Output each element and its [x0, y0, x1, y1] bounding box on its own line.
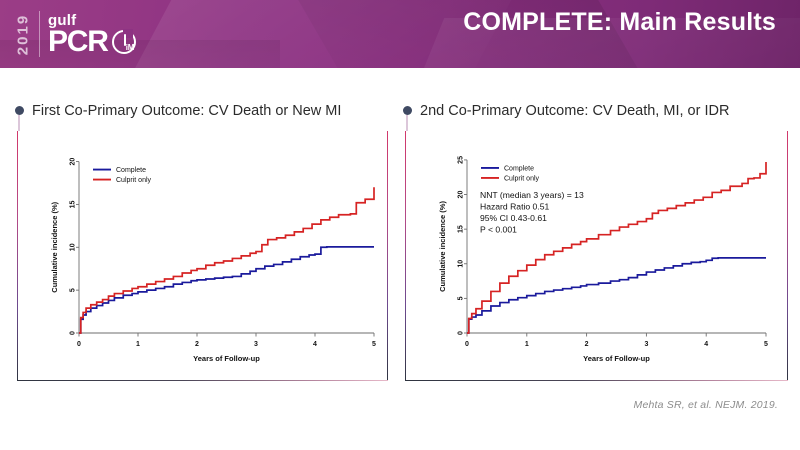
- x-tick-label: 0: [77, 341, 81, 348]
- bullet-marker-right: [400, 101, 414, 115]
- logo-divider: [39, 11, 40, 57]
- x-tick-label: 0: [465, 341, 469, 348]
- x-tick-label: 3: [644, 341, 648, 348]
- logo-im-text: iM: [126, 44, 135, 52]
- right-chart-canvas: 0510152025012345Years of Follow-upCumula…: [405, 131, 788, 381]
- bullet-dot-icon: [15, 106, 24, 115]
- right-chart-svg: 0510152025012345Years of Follow-upCumula…: [405, 131, 788, 381]
- y-tick-label: 5: [458, 296, 465, 300]
- panel-right-chart: 0510152025012345Years of Follow-upCumula…: [405, 131, 788, 381]
- page-title: COMPLETE: Main Results: [463, 8, 776, 37]
- y-tick-label: 0: [458, 331, 465, 335]
- y-tick-label: 20: [70, 158, 77, 166]
- series-curve-culprit-only: [79, 187, 374, 333]
- x-tick-label: 2: [585, 341, 589, 348]
- x-axis-title: Years of Follow-up: [193, 354, 260, 363]
- annotation-line-2: 95% CI 0.43-0.61: [480, 213, 547, 223]
- legend-label-0: Complete: [504, 166, 534, 173]
- y-tick-label: 10: [70, 243, 77, 251]
- y-axis-title: Cumulative incidence (%): [438, 201, 447, 292]
- heading-first-outcome: First Co-Primary Outcome: CV Death or Ne…: [12, 101, 341, 121]
- y-tick-label: 15: [458, 225, 465, 233]
- series-curve-complete: [79, 247, 374, 333]
- heading-second-outcome: 2nd Co-Primary Outcome: CV Death, MI, or…: [400, 101, 729, 121]
- gulf-pcr-logo: 2019 gulf PCR iM: [14, 6, 138, 62]
- x-tick-label: 4: [704, 341, 708, 348]
- logo-year: 2019: [15, 6, 32, 62]
- x-tick-label: 5: [764, 341, 768, 348]
- logo-pcr-text: PCR: [48, 29, 108, 55]
- x-axis-title: Years of Follow-up: [583, 354, 650, 363]
- y-axis-title: Cumulative incidence (%): [50, 201, 59, 292]
- x-tick-label: 3: [254, 341, 258, 348]
- legend-label-0: Complete: [116, 167, 146, 174]
- x-tick-label: 5: [372, 341, 376, 348]
- slide-root: 2019 gulf PCR iM COMPLETE: Main Results: [0, 0, 800, 450]
- logo-circle-g-icon: iM: [112, 29, 138, 55]
- x-tick-label: 2: [195, 341, 199, 348]
- logo-main-row: PCR iM: [48, 29, 138, 55]
- y-tick-label: 15: [70, 200, 77, 208]
- logo-wordmark: gulf PCR iM: [48, 13, 138, 55]
- annotation-line-3: P < 0.001: [480, 224, 517, 234]
- left-chart-svg: 05101520012345Years of Follow-upCumulati…: [17, 131, 388, 381]
- x-tick-label: 1: [525, 341, 529, 348]
- series-curve-complete: [467, 258, 766, 333]
- y-tick-label: 25: [458, 156, 465, 164]
- source-citation: Mehta SR, et al. NEJM. 2019.: [634, 399, 779, 411]
- y-tick-label: 10: [458, 260, 465, 268]
- annotation-line-0: NNT (median 3 years) = 13: [480, 190, 584, 200]
- bullet-marker-left: [12, 101, 26, 115]
- y-tick-label: 0: [70, 331, 77, 335]
- left-chart-canvas: 05101520012345Years of Follow-upCumulati…: [17, 131, 388, 381]
- header-banner: 2019 gulf PCR iM COMPLETE: Main Results: [0, 0, 800, 68]
- heading-left-label: First Co-Primary Outcome: CV Death or Ne…: [32, 101, 341, 121]
- heading-right-label: 2nd Co-Primary Outcome: CV Death, MI, or…: [420, 101, 729, 121]
- y-tick-label: 20: [458, 191, 465, 199]
- bullet-dot-icon: [403, 106, 412, 115]
- annotation-line-1: Hazard Ratio 0.51: [480, 201, 549, 211]
- panel-left-chart: 05101520012345Years of Follow-upCumulati…: [17, 131, 388, 381]
- legend-label-1: Culprit only: [504, 176, 540, 183]
- series-curve-culprit-only: [467, 162, 766, 333]
- y-tick-label: 5: [70, 288, 77, 292]
- x-tick-label: 4: [313, 341, 317, 348]
- x-tick-label: 1: [136, 341, 140, 348]
- legend-label-1: Culprit only: [116, 177, 152, 184]
